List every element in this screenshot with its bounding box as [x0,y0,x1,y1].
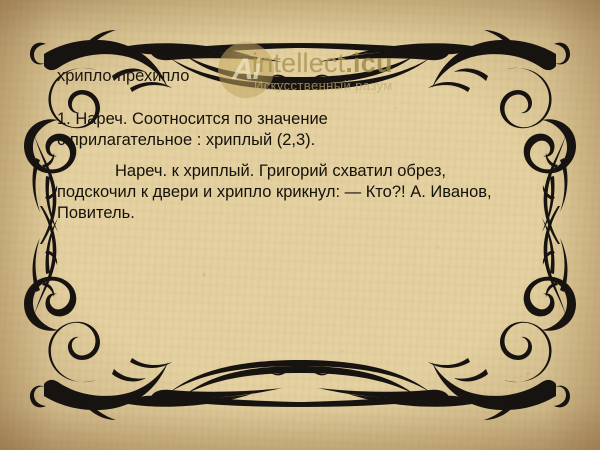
entry-content: хрипло-прехипло 1. Нареч. Соотносится по… [57,66,537,225]
definition-block: 1. Нареч. Соотносится по значение с прил… [57,109,527,152]
page-title: хрипло-прехипло [57,66,537,87]
definition-line-2: с прилагательное : хриплый (2,3). [57,131,315,149]
ornament-swag-bottom [170,360,430,394]
example-block: Нареч. к хриплый. Григорий схватил обрез… [57,161,527,225]
example-text: Нареч. к хриплый. Григорий схватил обрез… [57,162,492,223]
dictionary-entry-card: Ai intellect.icu Искусственный разум хри… [0,0,600,450]
definition-line-1: 1. Нареч. Соотносится по значение [57,110,328,128]
